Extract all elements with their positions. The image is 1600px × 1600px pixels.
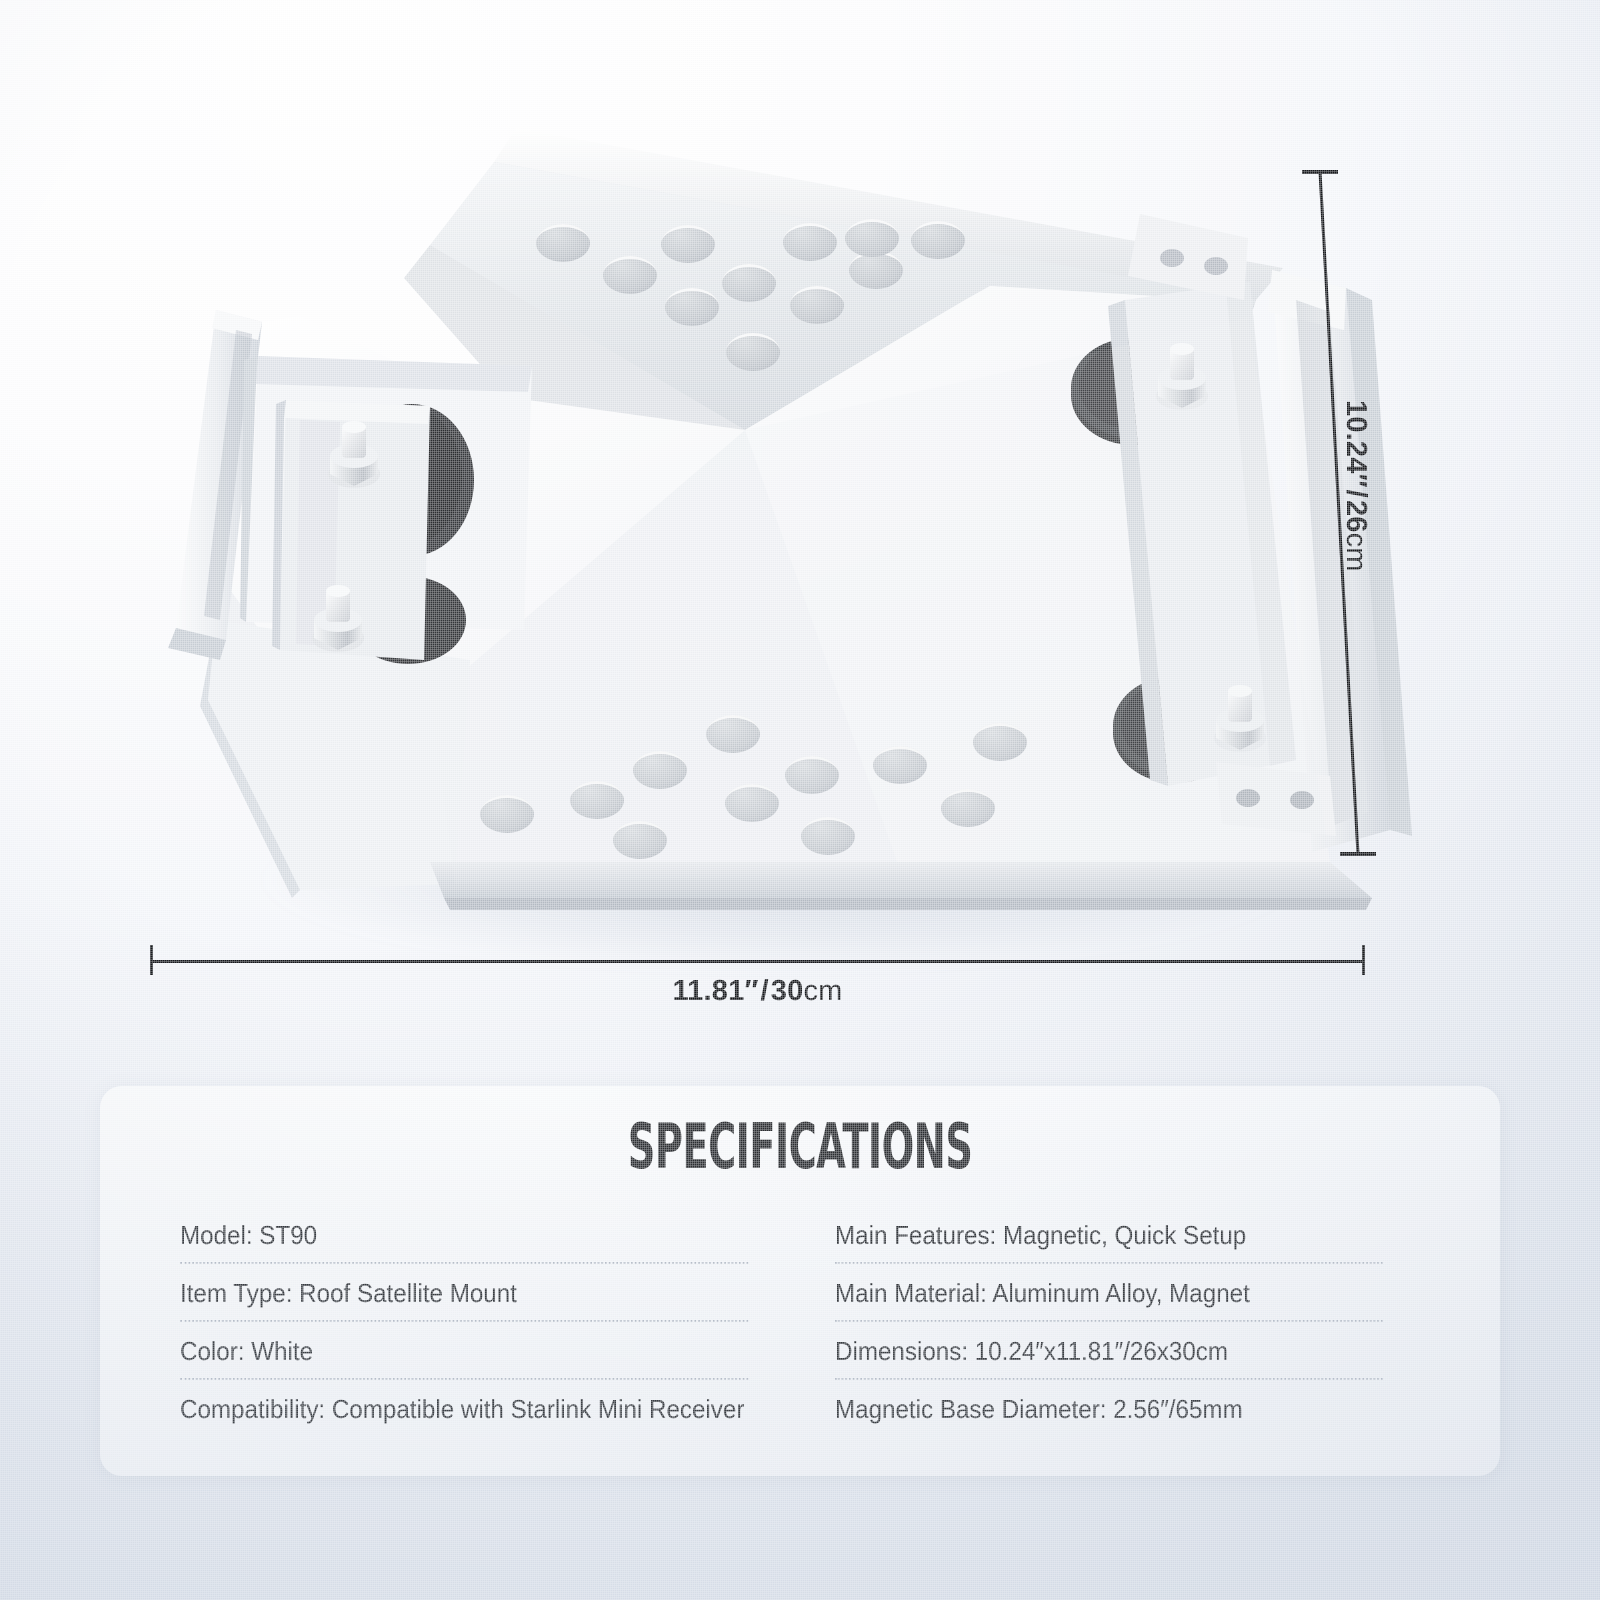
dimension-cap-right xyxy=(1362,945,1365,975)
perforation-hole xyxy=(665,288,719,326)
vertical-dimension-label: 10.24″/26cm xyxy=(1339,400,1372,572)
spec-item-main-material: Main Material: Aluminum Alloy, Magnet xyxy=(835,1264,1379,1322)
perforation-hole xyxy=(722,264,776,302)
vertical-metric-value: 26 xyxy=(1340,500,1372,533)
perforation-hole xyxy=(603,256,657,294)
vertical-dimension-line xyxy=(1280,140,1480,900)
horizontal-dimension-label: 11.81″/30cm xyxy=(150,975,1365,1008)
specifications-grid: Model: ST90 Main Features: Magnetic, Qui… xyxy=(180,1206,1420,1438)
specifications-title: SPECIFICATIONS xyxy=(366,1110,1234,1183)
specifications-panel: SPECIFICATIONS Model: ST90 Main Features… xyxy=(100,1086,1500,1476)
vertical-metric-unit: cm xyxy=(1340,533,1372,572)
spec-item-color: Color: White xyxy=(180,1322,744,1380)
product-spec-page: 10.24″/26cm 11.81″/30cm SPECIFICATIONS M… xyxy=(0,0,1600,1600)
vertical-dimension-value: 10.24 xyxy=(1340,400,1372,474)
perforation-hole xyxy=(783,223,837,261)
spec-item-main-features: Main Features: Magnetic, Quick Setup xyxy=(835,1206,1379,1264)
spec-item-magnetic-base-diameter: Magnetic Base Diameter: 2.56″/65mm xyxy=(835,1380,1379,1438)
perforation-hole xyxy=(726,333,780,371)
spec-item-compatibility: Compatibility: Compatible with Starlink … xyxy=(180,1380,744,1438)
dimension-cap-left xyxy=(150,945,153,975)
horizontal-dimension-line xyxy=(150,958,1365,964)
left-assembly xyxy=(168,310,532,664)
perforation-hole xyxy=(845,219,899,257)
perforation-hole xyxy=(790,286,844,324)
horizontal-metric-unit: cm xyxy=(803,975,842,1007)
spec-item-dimensions: Dimensions: 10.24″x11.81″/26x30cm xyxy=(835,1322,1379,1380)
perforation-hole xyxy=(536,224,590,262)
screw-hole xyxy=(1204,257,1228,275)
horizontal-inch-mark: ″ xyxy=(744,975,758,1007)
horizontal-dimension-separator: / xyxy=(759,975,771,1007)
horizontal-dimension-value: 11.81 xyxy=(672,975,744,1007)
spec-item-model: Model: ST90 xyxy=(180,1206,744,1264)
horizontal-metric-value: 30 xyxy=(771,975,804,1007)
perforation-hole xyxy=(911,221,965,259)
vertical-dimension-separator: / xyxy=(1340,488,1372,500)
vertical-inch-mark: ″ xyxy=(1340,474,1372,488)
spec-item-item-type: Item Type: Roof Satellite Mount xyxy=(180,1264,744,1322)
perforation-hole xyxy=(661,225,715,263)
lower-left-facet xyxy=(200,620,470,898)
screw-hole xyxy=(1160,249,1184,267)
dimension-line-stroke xyxy=(150,960,1365,963)
